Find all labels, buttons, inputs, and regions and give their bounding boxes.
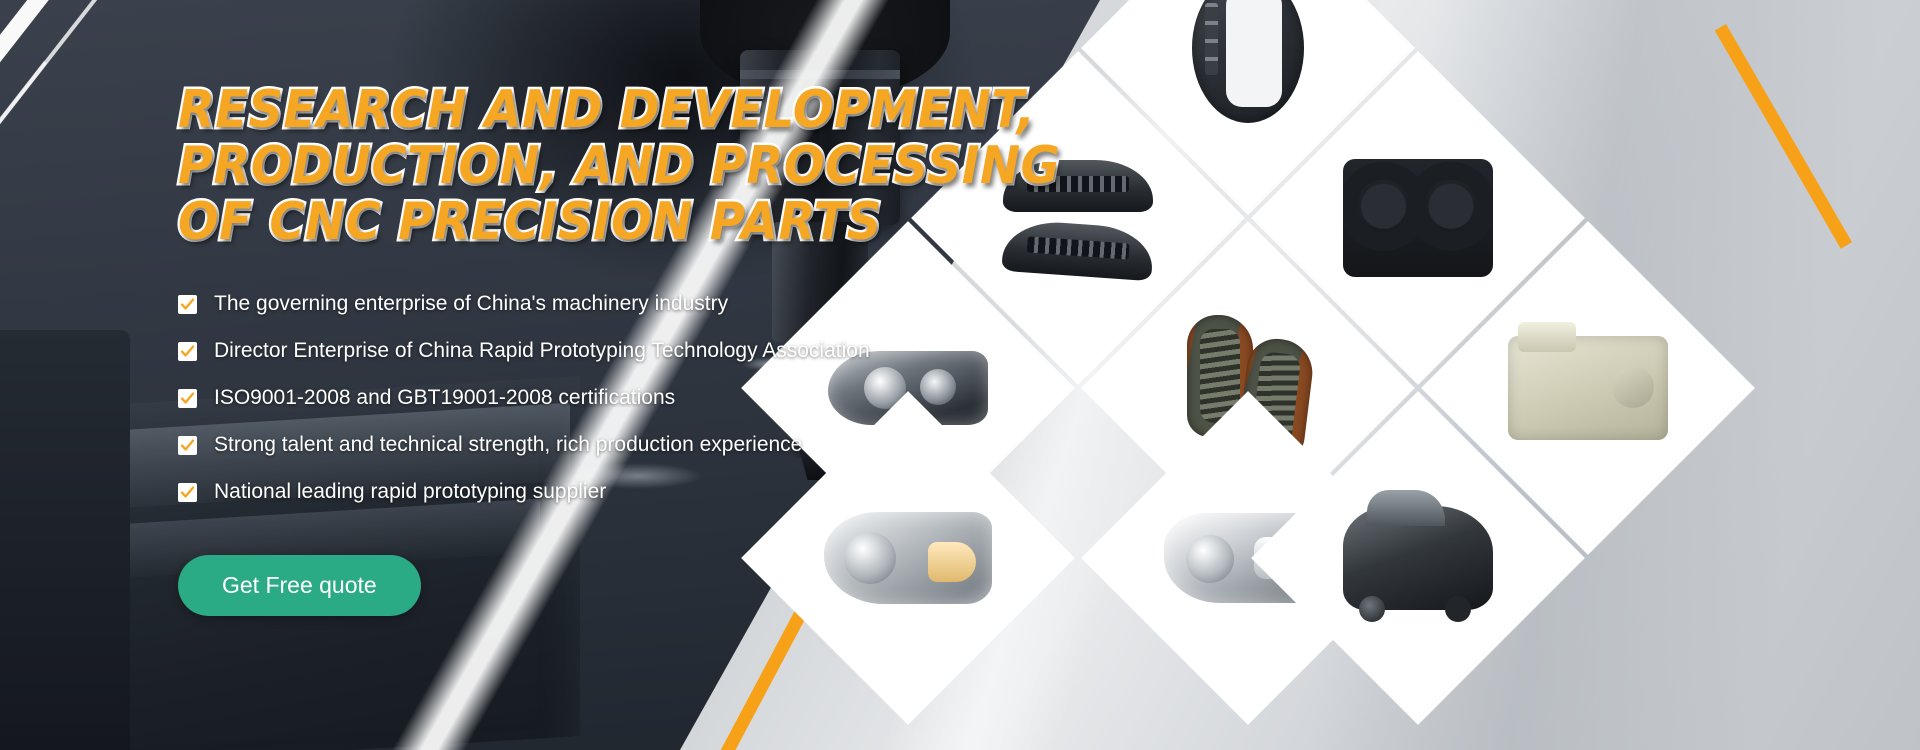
list-item: The governing enterprise of China's mach… bbox=[178, 292, 938, 316]
front-bumper-grille-lower-image bbox=[1001, 219, 1154, 281]
headline-line-1: RESEARCH AND DEVELOPMENT, bbox=[178, 82, 877, 138]
hvac-blower-housing-image bbox=[1508, 336, 1668, 440]
gear-shifter-bezel-image bbox=[1192, 0, 1304, 123]
checkbox-checked-icon bbox=[178, 295, 197, 314]
bullet-text: National leading rapid prototyping suppl… bbox=[214, 480, 606, 504]
bullet-text: Strong talent and technical strength, ri… bbox=[214, 433, 802, 457]
bullet-text: ISO9001-2008 and GBT19001-2008 certifica… bbox=[214, 386, 675, 410]
concept-car-model-image bbox=[1343, 506, 1493, 610]
list-item: Director Enterprise of China Rapid Proto… bbox=[178, 339, 938, 363]
list-item: ISO9001-2008 and GBT19001-2008 certifica… bbox=[178, 386, 938, 410]
list-item: National leading rapid prototyping suppl… bbox=[178, 480, 938, 504]
corner-stripe-thin-2 bbox=[0, 61, 47, 260]
product-diamond-gallery bbox=[880, 0, 1920, 750]
checkbox-checked-icon bbox=[178, 483, 197, 502]
headline-line-2: PRODUCTION, AND PROCESSING bbox=[178, 138, 877, 194]
hero-banner: RESEARCH AND DEVELOPMENT, PRODUCTION, AN… bbox=[0, 0, 1920, 750]
list-item: Strong talent and technical strength, ri… bbox=[178, 433, 938, 457]
checkbox-checked-icon bbox=[178, 436, 197, 455]
headline-line-3: OF CNC PRECISION PARTS bbox=[178, 194, 877, 250]
checkbox-checked-icon bbox=[178, 389, 197, 408]
hero-headline: RESEARCH AND DEVELOPMENT, PRODUCTION, AN… bbox=[178, 82, 938, 250]
feature-bullet-list: The governing enterprise of China's mach… bbox=[178, 292, 938, 504]
bullet-text: The governing enterprise of China's mach… bbox=[214, 292, 728, 316]
radiator-fan-shroud-image bbox=[1343, 159, 1493, 277]
hero-content: RESEARCH AND DEVELOPMENT, PRODUCTION, AN… bbox=[178, 82, 938, 616]
machine-post bbox=[0, 330, 130, 750]
get-free-quote-button[interactable]: Get Free quote bbox=[178, 555, 421, 616]
bullet-text: Director Enterprise of China Rapid Proto… bbox=[214, 339, 870, 363]
checkbox-checked-icon bbox=[178, 342, 197, 361]
